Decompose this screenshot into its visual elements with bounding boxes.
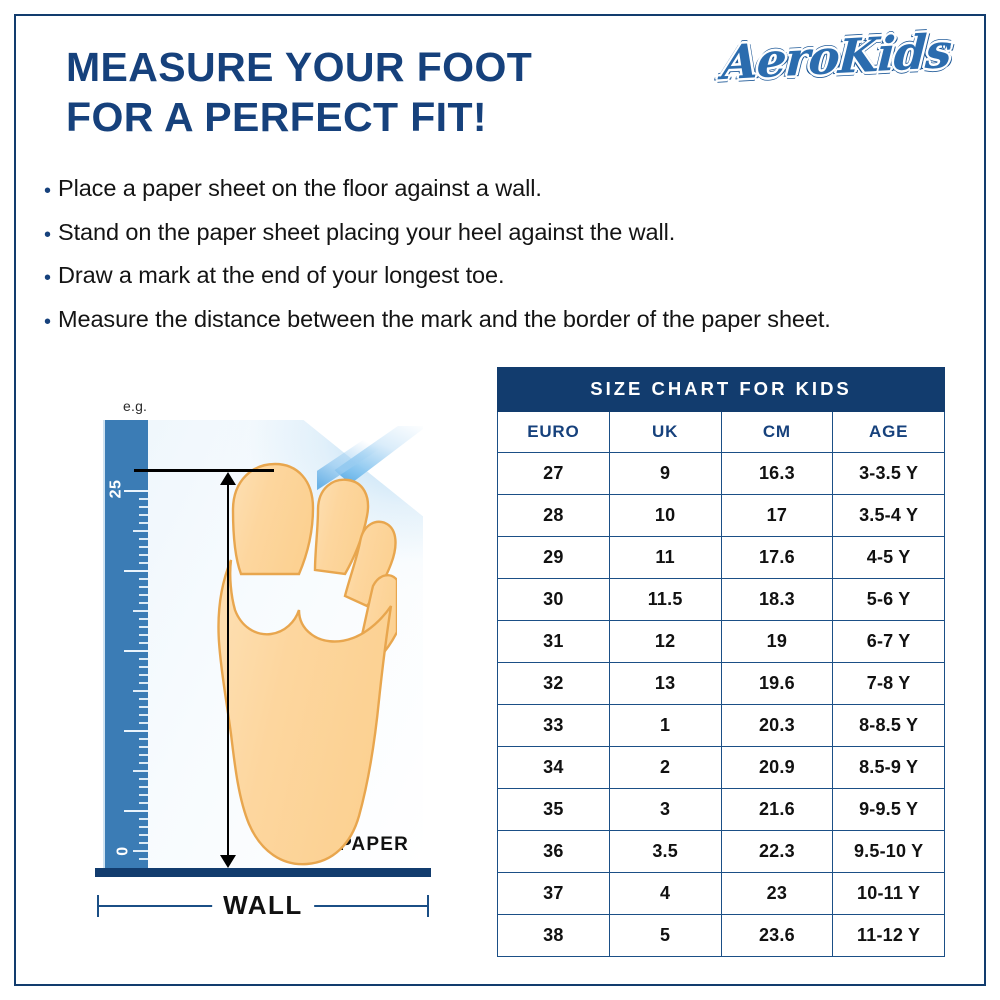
list-item: • Draw a mark at the end of your longest… [44,261,944,289]
table-banner-title: SIZE CHART FOR KIDS [498,368,945,412]
table-row: 37 4 23 10-11 Y [498,873,945,915]
instruction-list: • Place a paper sheet on the floor again… [44,174,944,349]
cell-uk: 5 [609,915,721,957]
size-chart-table-container: SIZE CHART FOR KIDS EURO UK CM AGE 27 9 … [497,367,945,957]
cell-euro: 36 [498,831,610,873]
list-item: • Place a paper sheet on the floor again… [44,174,944,202]
cell-uk: 2 [609,747,721,789]
cell-age: 5-6 Y [833,579,945,621]
instruction-text: Measure the distance between the mark an… [58,305,831,333]
cell-uk: 1 [609,705,721,747]
list-item: • Stand on the paper sheet placing your … [44,218,944,246]
page-title: MEASURE YOUR FOOT FOR A PERFECT FIT! [66,42,666,142]
table-banner-row: SIZE CHART FOR KIDS [498,368,945,412]
brand-logo-wordmark: AeroKids [721,25,936,91]
cell-euro: 28 [498,495,610,537]
table-row: 31 12 19 6-7 Y [498,621,945,663]
cell-cm: 20.9 [721,747,833,789]
list-item: • Measure the distance between the mark … [44,305,944,333]
cell-age: 3-3.5 Y [833,453,945,495]
brand-logo: AeroKids ™ [722,34,952,106]
cell-uk: 13 [609,663,721,705]
page-title-line-2: FOR A PERFECT FIT! [66,92,666,142]
infographic-page: MEASURE YOUR FOOT FOR A PERFECT FIT! Aer… [0,0,1000,1000]
trademark-symbol: ™ [940,42,952,56]
bullet-icon: • [44,268,51,288]
cell-cm: 23 [721,873,833,915]
cell-uk: 11.5 [609,579,721,621]
column-header-age: AGE [833,412,945,453]
table-row: 36 3.5 22.3 9.5-10 Y [498,831,945,873]
bullet-icon: • [44,312,51,332]
bullet-icon: • [44,225,51,245]
cell-uk: 12 [609,621,721,663]
cell-euro: 29 [498,537,610,579]
column-header-cm: CM [721,412,833,453]
cell-age: 11-12 Y [833,915,945,957]
table-row: 35 3 21.6 9-9.5 Y [498,789,945,831]
cell-cm: 18.3 [721,579,833,621]
table-header-row: EURO UK CM AGE [498,412,945,453]
cell-age: 8-8.5 Y [833,705,945,747]
cell-uk: 10 [609,495,721,537]
ruler-value-25: 25 [108,480,126,499]
bullet-icon: • [44,181,51,201]
cell-euro: 30 [498,579,610,621]
cell-cm: 23.6 [721,915,833,957]
wall-bar [95,868,431,877]
cell-euro: 34 [498,747,610,789]
table-row: 32 13 19.6 7-8 Y [498,663,945,705]
cell-uk: 3 [609,789,721,831]
cell-euro: 35 [498,789,610,831]
table-row: 34 2 20.9 8.5-9 Y [498,747,945,789]
table-row: 27 9 16.3 3-3.5 Y [498,453,945,495]
cell-euro: 33 [498,705,610,747]
cell-cm: 20.3 [721,705,833,747]
cell-age: 8.5-9 Y [833,747,945,789]
cell-cm: 19.6 [721,663,833,705]
wall-label: WALL [212,890,314,921]
cell-euro: 31 [498,621,610,663]
cell-cm: 21.6 [721,789,833,831]
page-title-line-1: MEASURE YOUR FOOT [66,42,666,92]
cell-age: 9.5-10 Y [833,831,945,873]
cell-age: 10-11 Y [833,873,945,915]
wall-dimension-line: WALL [95,890,431,922]
cell-age: 7-8 Y [833,663,945,705]
ruler-illustration: 25 0 [103,420,148,870]
table-row: 33 1 20.3 8-8.5 Y [498,705,945,747]
cell-euro: 32 [498,663,610,705]
instruction-text: Stand on the paper sheet placing your he… [58,218,675,246]
cell-age: 3.5-4 Y [833,495,945,537]
instruction-text: Place a paper sheet on the floor against… [58,174,542,202]
cell-euro: 37 [498,873,610,915]
cell-euro: 38 [498,915,610,957]
cell-uk: 11 [609,537,721,579]
cell-cm: 17.6 [721,537,833,579]
table-row: 30 11.5 18.3 5-6 Y [498,579,945,621]
cell-cm: 22.3 [721,831,833,873]
foot-sole-illustration [187,456,397,874]
foot-measurement-diagram: e.g. PAPER [95,398,435,910]
cell-age: 6-7 Y [833,621,945,663]
cell-uk: 4 [609,873,721,915]
cell-cm: 16.3 [721,453,833,495]
cell-age: 9-9.5 Y [833,789,945,831]
table-row: 38 5 23.6 11-12 Y [498,915,945,957]
cell-uk: 3.5 [609,831,721,873]
ruler-value-0: 0 [114,846,132,855]
toe-mark-line [134,469,274,472]
instruction-text: Draw a mark at the end of your longest t… [58,261,504,289]
column-header-uk: UK [609,412,721,453]
cell-uk: 9 [609,453,721,495]
table-row: 29 11 17.6 4-5 Y [498,537,945,579]
example-label: e.g. [123,398,147,414]
cell-age: 4-5 Y [833,537,945,579]
cell-cm: 17 [721,495,833,537]
measurement-arrow-icon [220,472,236,868]
table-body: 27 9 16.3 3-3.5 Y 28 10 17 3.5-4 Y 29 11… [498,453,945,957]
cell-euro: 27 [498,453,610,495]
cell-cm: 19 [721,621,833,663]
size-chart-table: SIZE CHART FOR KIDS EURO UK CM AGE 27 9 … [497,367,945,957]
column-header-euro: EURO [498,412,610,453]
table-row: 28 10 17 3.5-4 Y [498,495,945,537]
